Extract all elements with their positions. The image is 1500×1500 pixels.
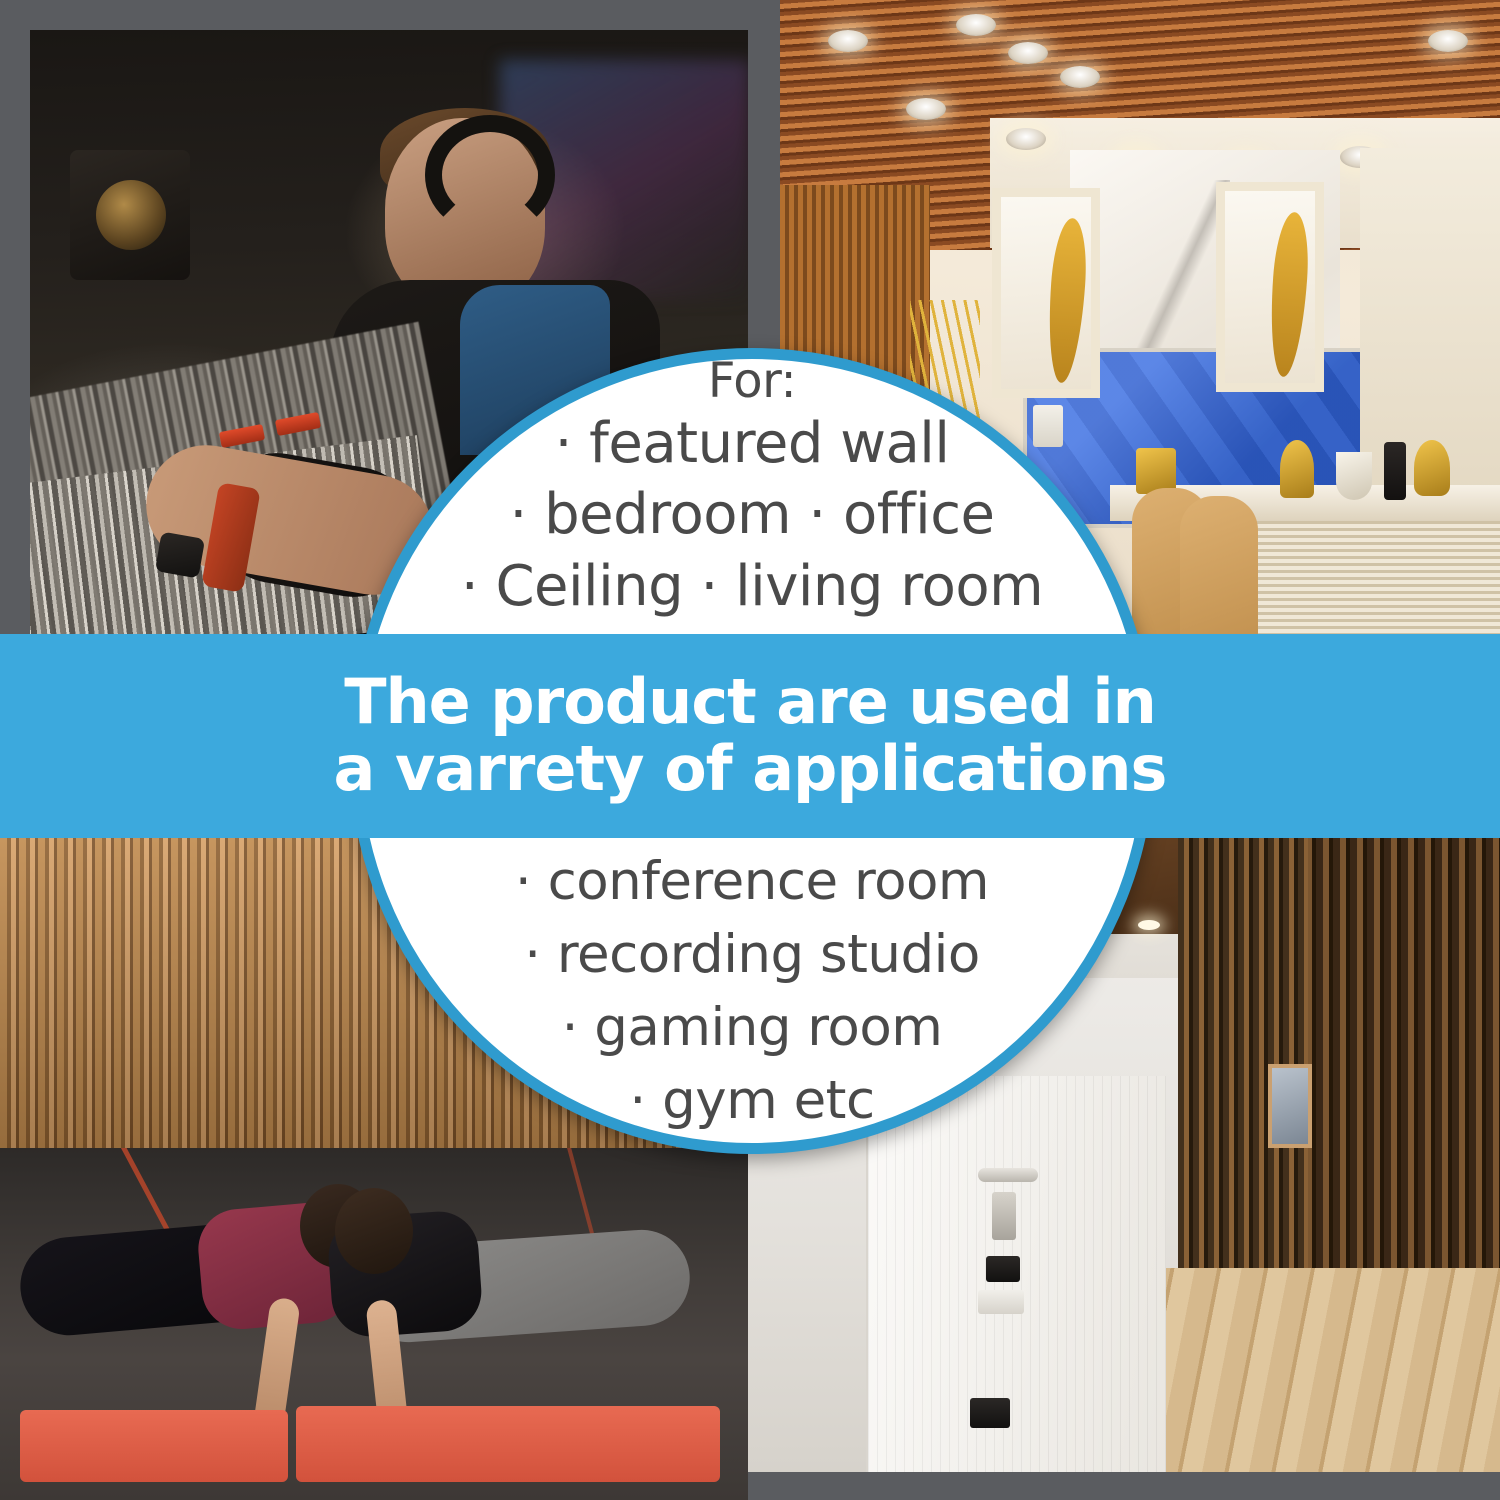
downlight-icon <box>1428 30 1468 52</box>
application-item-bedroom-office: · bedroom · office <box>349 479 1155 551</box>
glass-ornament <box>1336 452 1372 500</box>
dining-chair <box>1180 496 1258 640</box>
gold-statue-ornament <box>1280 440 1314 498</box>
door-lock-icon <box>992 1192 1016 1240</box>
exerciser-b-head <box>335 1188 413 1274</box>
downlight-icon <box>1008 42 1048 64</box>
downlight-icon <box>1006 128 1046 150</box>
exercise-mat <box>20 1410 288 1482</box>
wristwatch-icon <box>155 531 205 578</box>
coffee-machine <box>1384 442 1406 500</box>
display-niche <box>1216 182 1324 392</box>
product-infographic: For: · featured wall · bedroom · office … <box>0 0 1500 1500</box>
downlight-icon <box>1060 66 1100 88</box>
headline-line-1: The product are used in <box>344 669 1156 736</box>
application-item-featured-wall: · featured wall <box>349 408 1155 480</box>
circle-top-list: For: · featured wall · bedroom · office … <box>349 355 1155 623</box>
wood-floor <box>1148 1268 1500 1472</box>
wall-switch-icon[interactable] <box>978 1290 1024 1314</box>
headline-banner: The product are used in a varrety of app… <box>0 634 1500 838</box>
circle-bottom-list: · conference room · recording studio · g… <box>349 845 1155 1138</box>
gold-goblet-ornament <box>1414 440 1450 496</box>
gym-photo <box>0 1148 748 1500</box>
wall-panel-dark <box>986 1256 1020 1282</box>
headphones-icon <box>425 115 555 235</box>
headline-line-2: a varrety of applications <box>334 736 1167 803</box>
application-item-gaming-room: · gaming room <box>349 991 1155 1064</box>
application-item-gym-etc: · gym etc <box>349 1064 1155 1137</box>
studio-speaker-icon <box>70 150 190 280</box>
application-item-ceiling-living-room: · Ceiling · living room <box>349 551 1155 623</box>
downlight-icon <box>906 98 946 120</box>
framed-artwork <box>1268 1064 1312 1148</box>
downlight-icon <box>828 30 868 52</box>
for-heading: For: <box>349 355 1155 408</box>
wall-outlet-icon <box>970 1398 1010 1428</box>
door-handle-icon[interactable] <box>978 1168 1038 1182</box>
exercise-mat <box>296 1406 720 1482</box>
application-item-recording-studio: · recording studio <box>349 918 1155 991</box>
application-item-conference-room: · conference room <box>349 845 1155 918</box>
downlight-icon <box>956 14 996 36</box>
